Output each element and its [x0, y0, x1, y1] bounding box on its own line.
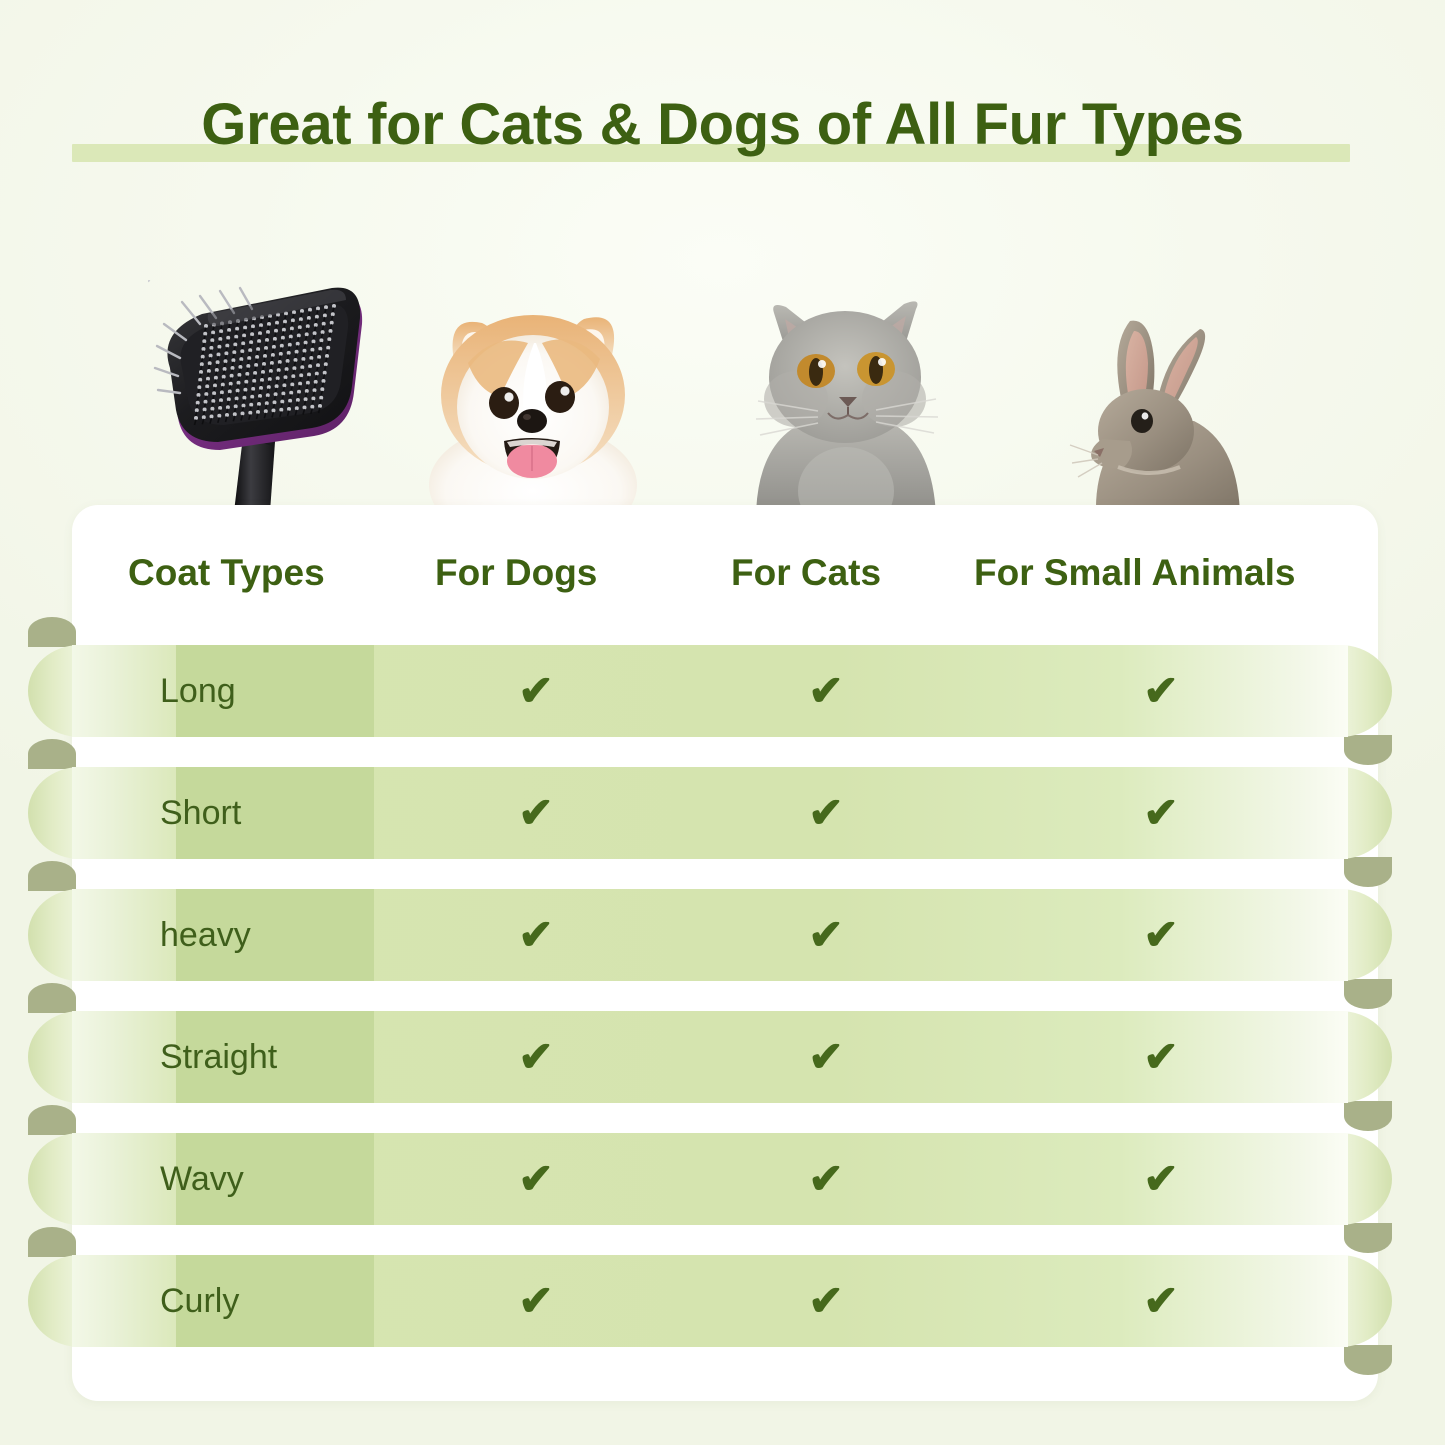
ribbon-fold-right-icon — [1344, 1345, 1392, 1375]
ribbon-fold-left-icon — [28, 739, 76, 769]
check-for-dogs: ✔ — [506, 889, 566, 981]
check-for-small-animals: ✔ — [1131, 645, 1191, 737]
check-for-small-animals: ✔ — [1131, 1011, 1191, 1103]
check-for-small-animals: ✔ — [1131, 889, 1191, 981]
table-row[interactable]: heavy ✔ ✔ ✔ — [28, 889, 1392, 981]
check-for-cats: ✔ — [796, 1011, 856, 1103]
table-row[interactable]: Curly ✔ ✔ ✔ — [28, 1255, 1392, 1347]
row-label-heavy: heavy — [160, 889, 340, 981]
ribbon-fold-left-icon — [28, 1105, 76, 1135]
page-title: Great for Cats & Dogs of All Fur Types — [0, 88, 1445, 162]
product-feature-infographic: Great for Cats & Dogs of All Fur Types — [0, 0, 1445, 1445]
row-label-straight: Straight — [160, 1011, 340, 1103]
ribbon-fold-right-icon — [1344, 1223, 1392, 1253]
column-header-for-dogs: For Dogs — [435, 547, 597, 599]
table-row[interactable]: Straight ✔ ✔ ✔ — [28, 1011, 1392, 1103]
check-for-small-animals: ✔ — [1131, 1133, 1191, 1225]
check-for-cats: ✔ — [796, 889, 856, 981]
column-header-for-small-animals: For Small Animals — [974, 547, 1295, 599]
ribbon-fold-right-icon — [1344, 979, 1392, 1009]
check-for-cats: ✔ — [796, 1133, 856, 1225]
check-for-small-animals: ✔ — [1131, 1255, 1191, 1347]
hero-image-row — [0, 275, 1445, 515]
ribbon-fold-right-icon — [1344, 857, 1392, 887]
ribbon-fold-left-icon — [28, 861, 76, 891]
rabbit-image — [1068, 315, 1258, 515]
check-for-dogs: ✔ — [506, 645, 566, 737]
table-row[interactable]: Long ✔ ✔ ✔ — [28, 645, 1392, 737]
check-for-small-animals: ✔ — [1131, 767, 1191, 859]
column-header-for-cats: For Cats — [731, 547, 881, 599]
row-label-long: Long — [160, 645, 340, 737]
check-for-dogs: ✔ — [506, 1011, 566, 1103]
row-label-curly: Curly — [160, 1255, 340, 1347]
title-block: Great for Cats & Dogs of All Fur Types — [0, 88, 1445, 184]
ribbon-fold-left-icon — [28, 983, 76, 1013]
check-for-cats: ✔ — [796, 645, 856, 737]
table-row[interactable]: Short ✔ ✔ ✔ — [28, 767, 1392, 859]
ribbon-fold-left-icon — [28, 1227, 76, 1257]
row-label-short: Short — [160, 767, 340, 859]
ribbon-fold-right-icon — [1344, 735, 1392, 765]
check-for-cats: ✔ — [796, 1255, 856, 1347]
table-row[interactable]: Wavy ✔ ✔ ✔ — [28, 1133, 1392, 1225]
cat-british-shorthair-image — [740, 295, 950, 515]
check-for-dogs: ✔ — [506, 767, 566, 859]
grooming-brush-image — [148, 280, 383, 515]
table-header-row: Coat Types For Dogs For Cats For Small A… — [72, 505, 1378, 645]
dog-pomeranian-image — [408, 285, 658, 515]
check-for-cats: ✔ — [796, 767, 856, 859]
check-for-dogs: ✔ — [506, 1255, 566, 1347]
ribbon-fold-right-icon — [1344, 1101, 1392, 1131]
check-for-dogs: ✔ — [506, 1133, 566, 1225]
ribbon-fold-left-icon — [28, 617, 76, 647]
column-header-coat-types: Coat Types — [128, 547, 325, 599]
row-label-wavy: Wavy — [160, 1133, 340, 1225]
